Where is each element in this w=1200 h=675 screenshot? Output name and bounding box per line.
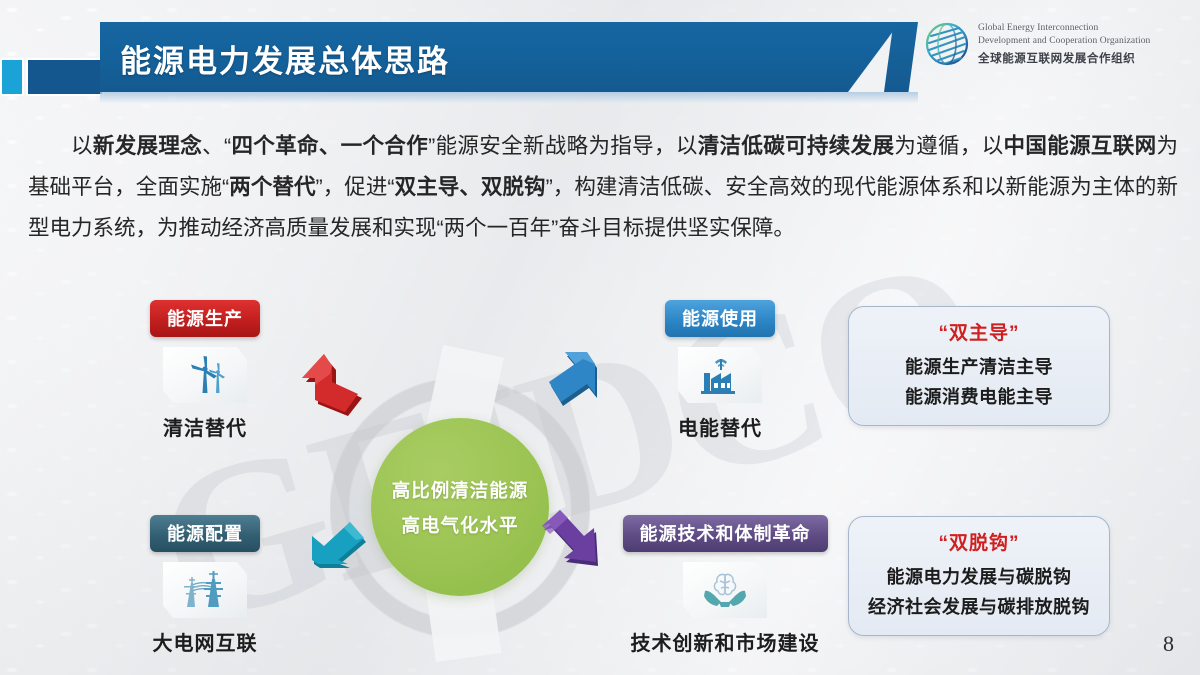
factory-icon (678, 347, 762, 403)
label-grid-interconnection: 大电网互联 (100, 627, 310, 656)
badge-energy-allocation: 能源配置 (150, 515, 260, 552)
panel-dual-decoupling[interactable]: “双脱钩” 能源电力发展与碳脱钩 经济社会发展与碳排放脱钩 (848, 516, 1110, 636)
center-line-2: 高电气化水平 (401, 512, 518, 538)
center-goal-circle: 高比例清洁能源 高电气化水平 (371, 418, 549, 596)
header-accent-block-navy (26, 58, 104, 96)
label-tech-innovation-market: 技术创新和市场建设 (595, 627, 855, 656)
node-energy-use[interactable]: 能源使用 (615, 300, 825, 441)
globe-grid-icon (925, 22, 969, 66)
page-title: 能源电力发展总体思路 (120, 36, 450, 81)
label-electric-substitution: 电能替代 (615, 412, 825, 441)
badge-energy-tech-reform: 能源技术和体制革命 (623, 515, 828, 552)
label-clean-substitution: 清洁替代 (100, 412, 310, 441)
panel-dual-dominance-line-1: 能源生产清洁主导 (857, 352, 1101, 382)
panel-dual-decoupling-line-1: 能源电力发展与碳脱钩 (857, 562, 1101, 592)
wind-turbine-icon (163, 347, 247, 403)
panel-dual-dominance-title: “双主导” (857, 318, 1101, 345)
logo-en-line2: Development and Cooperation Organization (978, 35, 1150, 48)
center-line-1: 高比例清洁能源 (392, 477, 529, 503)
header-accent-block-cyan (0, 58, 24, 96)
node-energy-allocation[interactable]: 能源配置 (100, 515, 310, 656)
body-paragraph: 以新发展理念、“四个革命、一个合作”能源安全新战略为指导，以清洁低碳可持续发展为… (28, 126, 1178, 249)
node-energy-production[interactable]: 能源生产 (100, 300, 310, 441)
hands-brain-icon (683, 562, 767, 618)
arrow-3d-up-right-icon (525, 348, 617, 418)
header-underline (100, 92, 918, 103)
slide-canvas: GEIDCO 能源电力发展总体思路 (0, 0, 1200, 675)
transmission-tower-icon (163, 562, 247, 618)
node-energy-tech-reform[interactable]: 能源技术和体制革命 技术创新和市场建设 (595, 515, 855, 656)
logo-en-line1: Global Energy Interconnection (978, 22, 1150, 35)
badge-energy-production: 能源生产 (150, 300, 260, 337)
panel-dual-dominance[interactable]: “双主导” 能源生产清洁主导 能源消费电能主导 (848, 306, 1110, 426)
logo-cn-name: 全球能源互联网发展合作组织 (978, 50, 1150, 66)
page-number: 8 (1163, 631, 1174, 657)
panel-dual-decoupling-title: “双脱钩” (857, 528, 1101, 555)
organization-logo: Global Energy Interconnection Developmen… (925, 22, 1150, 66)
panel-dual-dominance-line-2: 能源消费电能主导 (857, 382, 1101, 412)
badge-energy-use: 能源使用 (665, 300, 775, 337)
slide-header: 能源电力发展总体思路 (0, 0, 1200, 108)
panel-dual-decoupling-line-2: 经济社会发展与碳排放脱钩 (857, 592, 1101, 622)
